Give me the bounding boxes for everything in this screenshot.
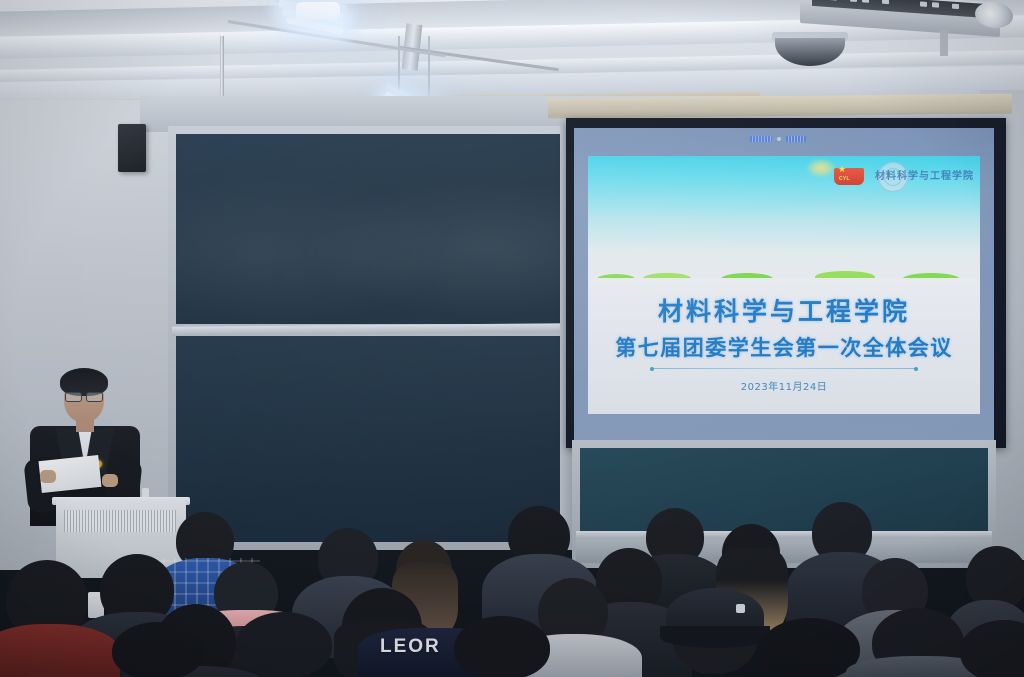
wall-speaker-icon [118,124,146,172]
lens-right [86,392,103,402]
projector-button[interactable] [920,1,927,6]
student-head [112,622,204,677]
cap-logo-icon [736,604,745,613]
osd-dot-icon [777,137,781,141]
osd-segment [786,136,806,142]
projector-button[interactable] [952,4,959,9]
league-star-icon: ★ [838,165,846,174]
student-shoulders [0,624,120,677]
lamp-wire [428,36,430,98]
projector-button[interactable] [830,0,837,1]
presentation-slide: ★ CYL 材料科学与工程学院 材料科学与工程学院 第七届团委学生会第一次全体会… [588,156,980,414]
slide-title: 材料科学与工程学院 [588,292,980,328]
university-name-text: 材料科学与工程学院 [875,167,974,182]
glasses-icon [65,392,103,400]
student-head [454,616,550,677]
sun-icon [808,160,834,176]
projector-osd-indicator [750,136,806,142]
projector-button[interactable] [850,0,857,2]
student-head [236,612,332,677]
jacket-text-label: LEOR [380,636,441,658]
cap-brim [660,626,770,648]
projector-mount-arm [940,30,948,56]
audience: LEOR [0,500,1024,677]
slide-date: 2023年11月24日 [588,378,980,393]
classroom-photo: ★ CYL 材料科学与工程学院 材料科学与工程学院 第七届团委学生会第一次全体会… [0,0,1024,677]
osd-segment [750,136,772,142]
projector-button[interactable] [932,2,939,7]
speaker-hand-left [40,470,56,483]
lens-left [65,392,82,402]
speaker-hand-right [102,474,118,487]
lamp-glow [296,2,340,20]
projection-screen: ★ CYL 材料科学与工程学院 材料科学与工程学院 第七届团委学生会第一次全体会… [574,128,994,440]
slide-divider [654,368,914,369]
student-head [760,618,860,677]
league-logo-label: CYL [839,176,850,182]
projector-button[interactable] [862,0,869,3]
projector-button[interactable] [882,0,889,4]
youth-league-logo-icon: ★ CYL [834,164,864,188]
slide-subtitle: 第七届团委学生会第一次全体会议 [588,332,980,362]
blackboard-upper-panel [176,134,564,324]
